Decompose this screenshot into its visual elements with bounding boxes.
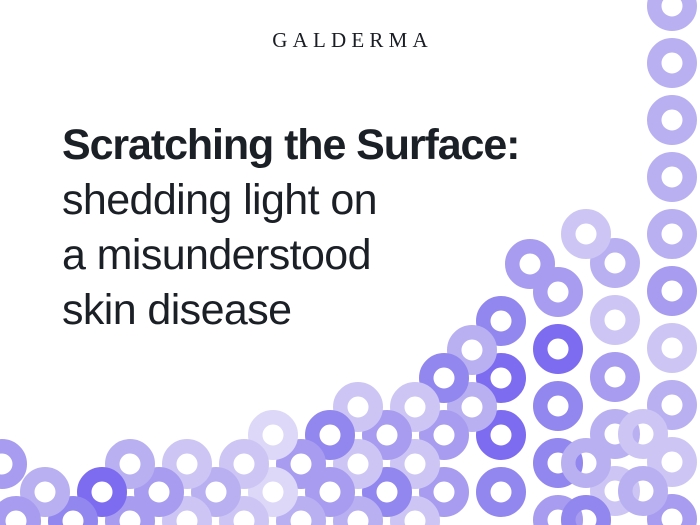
ring-shape	[112, 446, 148, 482]
page-title: Scratching the Surface: shedding light o…	[62, 118, 642, 338]
ring-shape	[625, 473, 661, 509]
ring-shape	[654, 159, 690, 195]
ring-shape	[141, 474, 177, 510]
brand-logo-text: GALDERMA	[267, 28, 433, 53]
ring-shape	[654, 330, 690, 366]
ring-shape	[540, 502, 576, 525]
headline-line-4: skin disease	[62, 283, 642, 338]
ring-shape	[283, 446, 319, 482]
ring-shape	[312, 417, 348, 453]
ring-shape	[0, 446, 20, 482]
ring-shape	[0, 503, 34, 525]
ring-shape	[340, 389, 376, 425]
ring-shape	[112, 503, 148, 525]
ring-shape	[483, 360, 519, 396]
ring-shape	[226, 503, 262, 525]
ring-shape	[654, 102, 690, 138]
ring-shape	[283, 503, 319, 525]
ring-shape	[597, 473, 633, 509]
ring-shape	[568, 445, 604, 481]
ring-shape	[654, 387, 690, 423]
ring-shape	[369, 417, 405, 453]
ring-shape	[654, 216, 690, 252]
ring-shape	[55, 503, 91, 525]
ring-shape	[169, 503, 205, 525]
ring-shape	[169, 446, 205, 482]
ring-shape	[84, 474, 120, 510]
ring-shape	[540, 388, 576, 424]
ring-shape	[340, 503, 376, 525]
ring-shape	[397, 503, 433, 525]
ring-shape	[426, 474, 462, 510]
ring-shape	[597, 359, 633, 395]
ring-shape	[27, 474, 63, 510]
headline-line-3: a misunderstood	[62, 228, 642, 283]
ring-shape	[454, 389, 490, 425]
ring-shape	[198, 474, 234, 510]
brand-logo: GALDERMA	[0, 28, 700, 53]
ring-shape	[654, 501, 690, 525]
ring-shape	[654, 273, 690, 309]
ring-shape	[226, 446, 262, 482]
ring-shape	[654, 0, 690, 24]
ring-shape	[483, 417, 519, 453]
ring-shape	[369, 474, 405, 510]
ring-shape	[426, 360, 462, 396]
headline-line-1: Scratching the Surface:	[62, 118, 642, 173]
ring-shape	[397, 389, 433, 425]
ring-shape	[397, 446, 433, 482]
ring-shape	[568, 502, 604, 525]
poster-canvas: GALDERMA Scratching the Surface: sheddin…	[0, 0, 700, 525]
ring-shape	[312, 474, 348, 510]
ring-shape	[654, 444, 690, 480]
ring-shape	[540, 445, 576, 481]
ring-shape	[597, 416, 633, 452]
ring-shape	[625, 416, 661, 452]
ring-shape	[255, 417, 291, 453]
headline-line-2: shedding light on	[62, 173, 642, 228]
ring-shape	[426, 417, 462, 453]
ring-shape	[483, 474, 519, 510]
ring-shape	[255, 474, 291, 510]
ring-shape	[340, 446, 376, 482]
